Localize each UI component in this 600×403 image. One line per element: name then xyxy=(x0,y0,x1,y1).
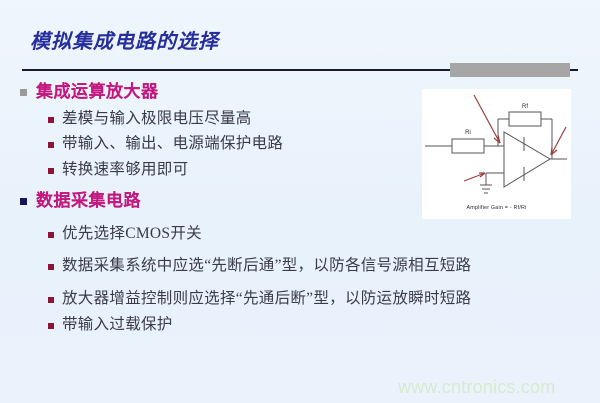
bullet-text: 转换速率够用即可 xyxy=(62,158,188,183)
square-bullet-icon xyxy=(48,232,54,238)
bullet-text: 数据采集系统中应选“先断后通”型，以防各信号源相互短路 xyxy=(62,254,471,279)
bullet-text: 优先选择CMOS开关 xyxy=(62,222,202,247)
bullet-text: 放大器增益控制则应选择“先通后断”型，以防运放瞬时短路 xyxy=(62,287,471,312)
feedback-resistor-label: Rf xyxy=(522,104,528,110)
square-bullet-icon xyxy=(48,323,54,329)
square-bullet-icon xyxy=(48,297,54,303)
bullet-text: 数据采集电路 xyxy=(36,189,141,214)
circuit-schematic-svg: Ri Rf xyxy=(422,89,571,219)
list-item: 优先选择CMOS开关 xyxy=(0,222,600,247)
list-item: 放大器增益控制则应选择“先通后断”型，以防运放瞬时短路 xyxy=(0,287,600,312)
title-accent-block xyxy=(450,63,570,77)
bullet-text: 集成运算放大器 xyxy=(36,80,159,105)
square-bullet-icon xyxy=(48,142,54,148)
square-bullet-icon xyxy=(48,264,54,270)
figure-caption: Amplifier Gain = - Rf/Ri xyxy=(422,205,571,211)
square-bullet-icon xyxy=(20,89,27,96)
list-item: 数据采集系统中应选“先断后通”型，以防各信号源相互短路 xyxy=(0,254,600,279)
site-watermark: www.cntronics.com xyxy=(398,377,555,398)
slide-canvas: 模拟集成电路的选择 集成运算放大器 差模与输入极限电压尽量高 带输入、输出、电源… xyxy=(0,0,600,403)
square-bullet-icon xyxy=(20,198,27,205)
op-amp-circuit-figure: Ri Rf Amplifier Gain = - Rf/Ri xyxy=(422,89,571,219)
square-bullet-icon xyxy=(48,117,54,123)
square-bullet-icon xyxy=(48,168,54,174)
bullet-text: 差模与输入极限电压尽量高 xyxy=(62,107,252,132)
bullet-text: 带输入过载保护 xyxy=(62,313,173,338)
input-resistor-label: Ri xyxy=(465,130,471,136)
bullet-text: 带输入、输出、电源端保护电路 xyxy=(62,132,283,157)
list-item: 带输入过载保护 xyxy=(0,313,600,338)
page-title: 模拟集成电路的选择 xyxy=(30,25,219,54)
